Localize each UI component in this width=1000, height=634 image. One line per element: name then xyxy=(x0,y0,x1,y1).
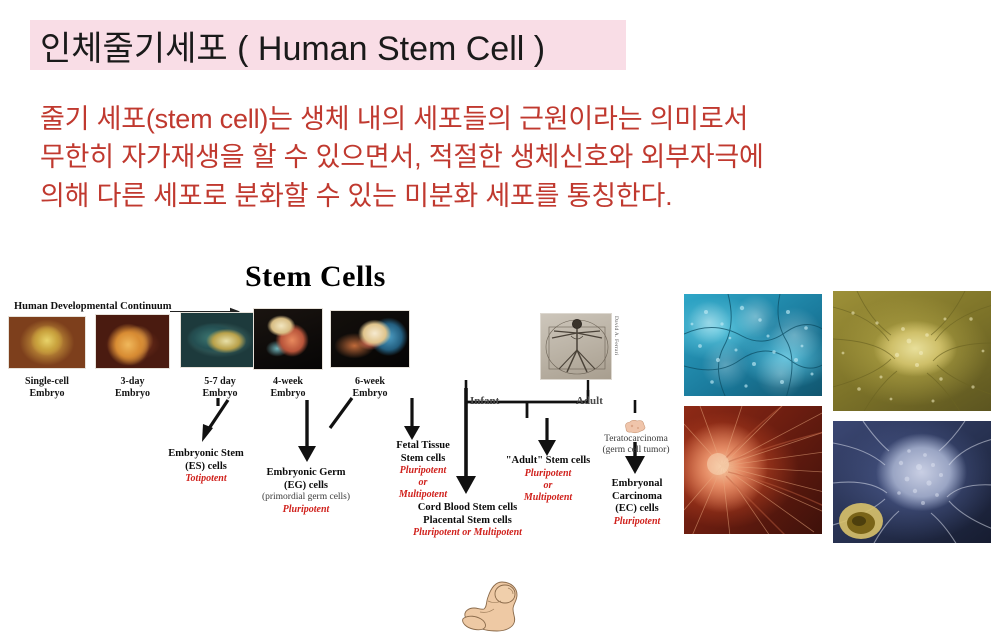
body-paragraph: 줄기 세포(stem cell)는 생체 내의 세포들의 근원이라는 의미로서 … xyxy=(40,100,950,215)
micrograph-olive-texture xyxy=(833,291,992,412)
es-cells-title: Embryonic Stem (ES) cells xyxy=(152,448,260,473)
eg-cells-note: (primordial germ cells) xyxy=(246,492,366,503)
eg-cells-title: Embryonic Germ (EG) cells xyxy=(246,467,366,492)
page-title: 인체줄기세포 ( Human Stem Cell ) xyxy=(30,21,545,70)
block-embryonic-stem-cells: Embryonic Stem (ES) cells Totipotent xyxy=(152,448,260,485)
yellow-inclusion xyxy=(839,503,883,539)
adult-potency: Pluripotent or Multipotent xyxy=(490,468,606,504)
fetal-potency: Pluripotent or Multipotent xyxy=(378,465,468,501)
micrograph-cyan-colony xyxy=(683,293,823,397)
block-embryonic-germ-cells: Embryonic Germ (EG) cells (primordial ge… xyxy=(246,467,366,516)
ec-cells-title: Embryonal Carcinoma (EC) cells xyxy=(592,478,682,516)
block-cord-blood-placental-stem-cells: Cord Blood Stem cells Placental Stem cel… xyxy=(385,502,550,539)
micrograph-blue-colony xyxy=(832,420,992,544)
stage-label-adult: Adult xyxy=(576,395,603,407)
block-fetal-tissue-stem-cells: Fetal Tissue Stem cells Pluripotent or M… xyxy=(378,440,468,501)
fetal-title: Fetal Tissue Stem cells xyxy=(378,440,468,465)
micrograph-blue-texture xyxy=(833,421,992,544)
vitruvian-credit: David A. Ferrari xyxy=(613,316,619,355)
block-embryonal-carcinoma-cells: Embryonal Carcinoma (EC) cells Pluripote… xyxy=(592,478,682,528)
micrograph-olive-colony xyxy=(832,290,992,412)
vitruvian-sketch xyxy=(541,314,612,380)
stage-label-infant: Infant xyxy=(470,395,499,407)
eg-cells-potency: Pluripotent xyxy=(246,504,366,516)
teratocarcinoma-label: Teratocarcinoma (germ cell tumor) xyxy=(580,434,692,457)
micrograph-red-texture xyxy=(684,406,823,535)
vitruvian-man-image xyxy=(540,313,612,380)
adult-title: "Adult" Stem cells xyxy=(490,455,606,468)
ec-cells-potency: Pluripotent xyxy=(592,516,682,528)
micrograph-red-fibroblasts xyxy=(683,405,823,535)
block-adult-stem-cells: "Adult" Stem cells Pluripotent or Multip… xyxy=(490,455,606,504)
cord-potency: Pluripotent or Multipotent xyxy=(385,527,550,539)
teratocarcinoma-blob xyxy=(622,420,648,434)
es-cells-potency: Totipotent xyxy=(152,473,260,485)
title-band: 인체줄기세포 ( Human Stem Cell ) xyxy=(30,20,626,70)
infant-illustration xyxy=(458,576,528,634)
block-teratocarcinoma: Teratocarcinoma (germ cell tumor) xyxy=(580,434,692,457)
cord-title: Cord Blood Stem cells Placental Stem cel… xyxy=(385,502,550,527)
micrograph-cyan-texture xyxy=(684,294,823,397)
